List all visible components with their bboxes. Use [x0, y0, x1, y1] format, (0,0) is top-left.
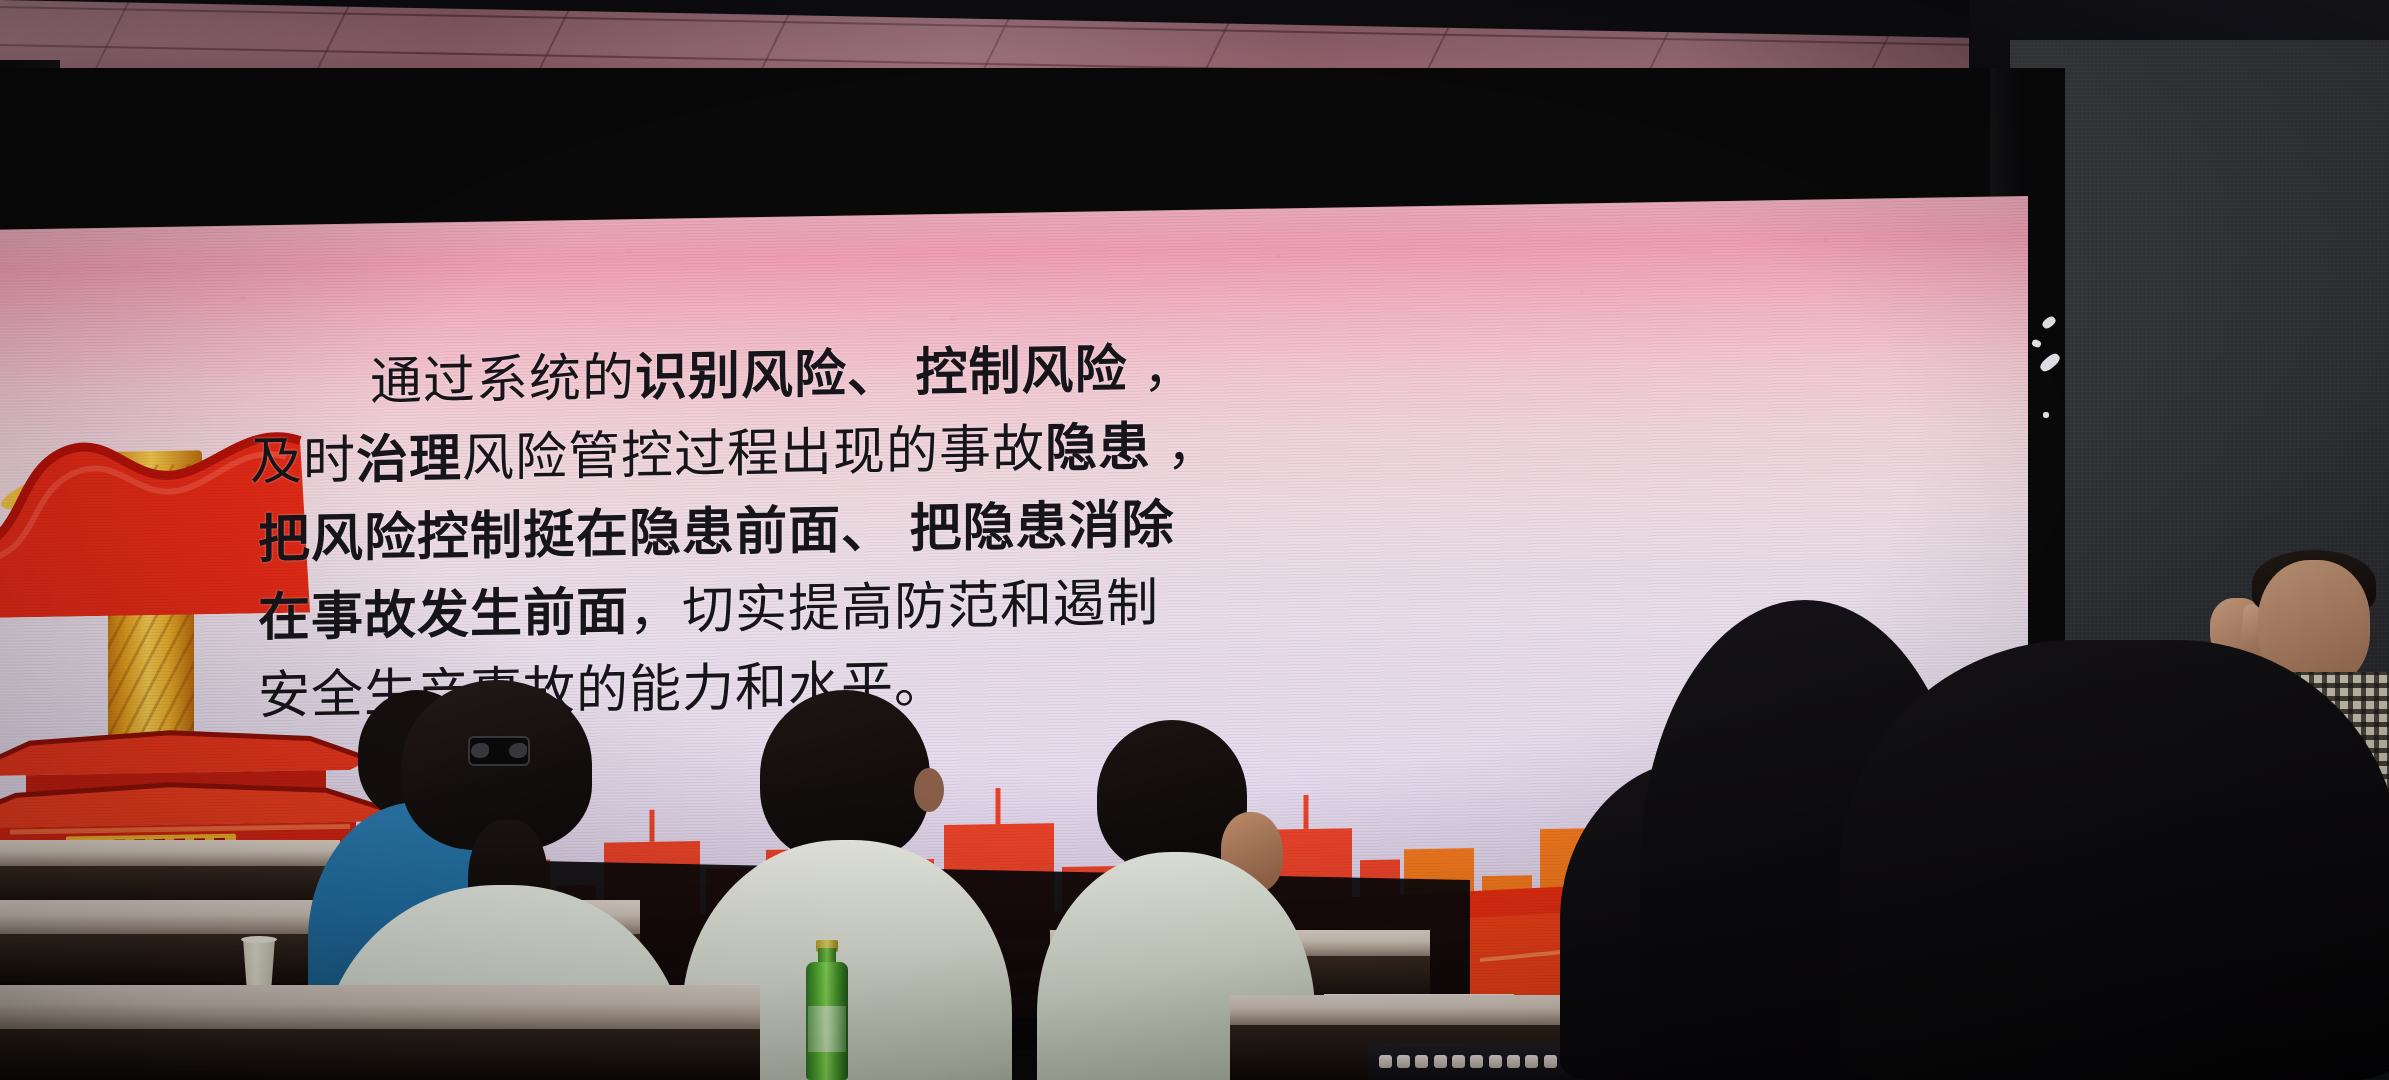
- slide-text-emphasis: 在事故发生前面: [258, 583, 629, 647]
- slide-body-text: 通过系统的识别风险、 控制风险 ， 及时治理风险管控过程出现的事故隐患 ， 把风…: [250, 321, 1730, 736]
- bezel-glint: [2043, 412, 2049, 418]
- slide-text-run: ，: [1151, 417, 1219, 476]
- slide-text-run: 及时: [250, 432, 356, 492]
- slide-text-emphasis: 识别风险、 控制风险: [635, 341, 1127, 407]
- attendee-head: [760, 690, 930, 862]
- slide-text-run: 通过系统的: [370, 349, 635, 411]
- desk-row-front: [0, 985, 760, 1029]
- attendee-ear: [914, 768, 944, 812]
- desk-row-third: [0, 840, 340, 866]
- paper-cup-rim: [241, 936, 277, 943]
- slide-text-run: ，: [1127, 340, 1195, 399]
- slide-text-emphasis: 隐患: [1045, 419, 1151, 479]
- slide-text-run: ，切实提高防范和遏制: [629, 574, 1159, 641]
- attendee-center: [730, 690, 1030, 1080]
- training-room-scene: 通过系统的识别风险、 控制风险 ， 及时治理风险管控过程出现的事故隐患 ， 把风…: [0, 0, 2389, 1080]
- slide-text-emphasis: 治理: [356, 430, 462, 490]
- hair-clip: [468, 736, 530, 766]
- water-bottle: [806, 940, 848, 1080]
- bottle-label: [808, 1006, 846, 1052]
- slide-text-emphasis: 把风险控制挺在隐患前面、 把隐患消除: [258, 496, 1174, 569]
- desk-shadow: [0, 1029, 760, 1080]
- slide-text-run: 风险管控过程出现的事故: [462, 420, 1045, 488]
- paper-cup: [243, 938, 275, 990]
- attendee-silhouette-far-right: [1840, 640, 2389, 1080]
